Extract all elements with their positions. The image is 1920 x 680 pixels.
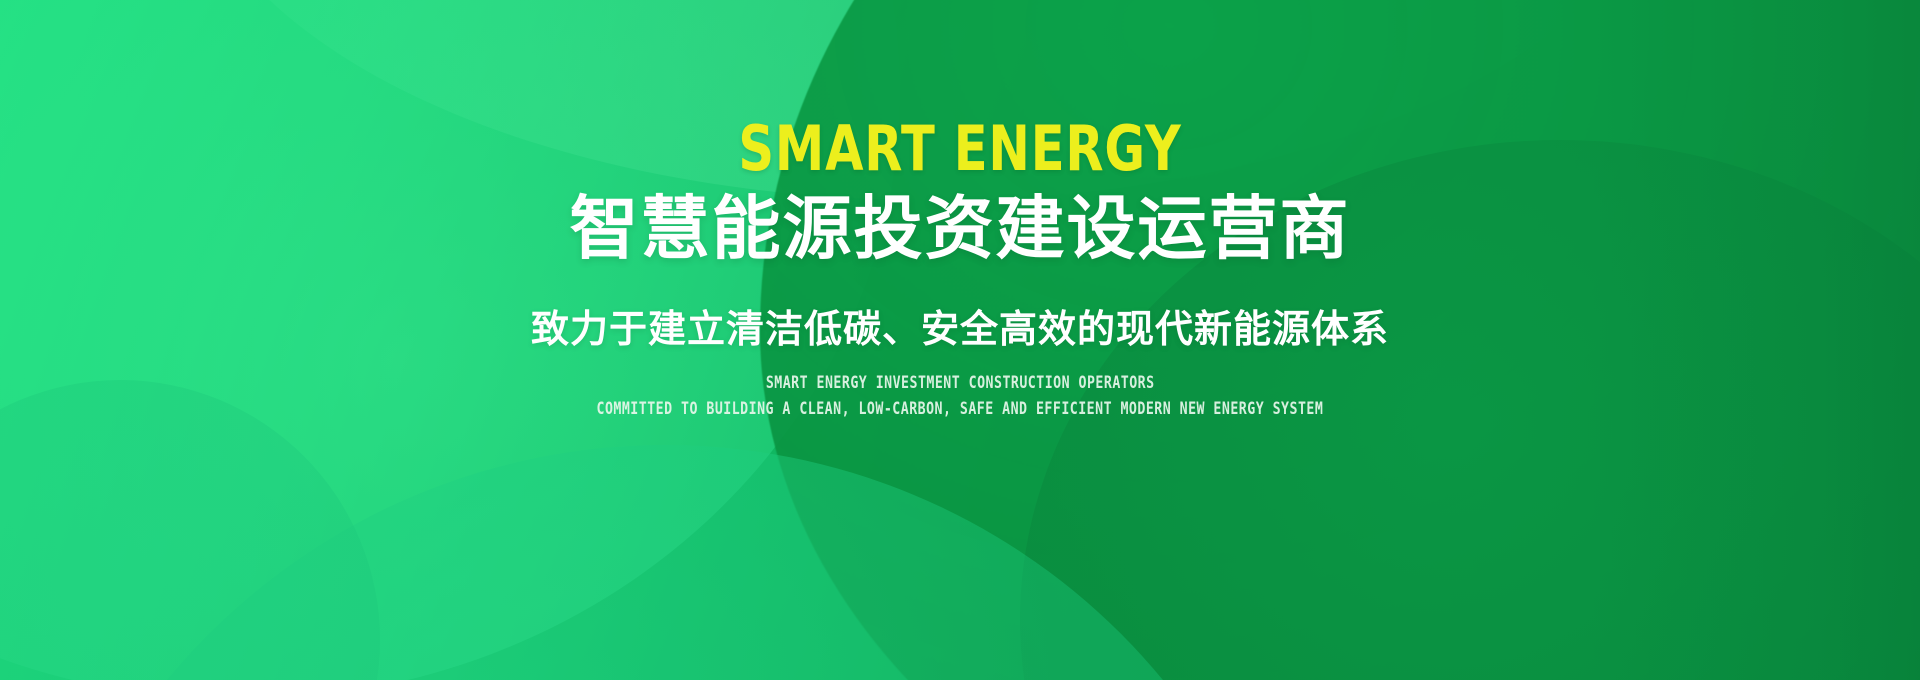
banner-caption-line-1: SMART ENERGY INVESTMENT CONSTRUCTION OPE… <box>766 374 1155 394</box>
hero-banner: SMART ENERGY 智慧能源投资建设运营商 致力于建立清洁低碳、安全高效的… <box>0 0 1920 680</box>
banner-title-english: SMART ENERGY <box>738 118 1181 180</box>
banner-subtitle-chinese: 致力于建立清洁低碳、安全高效的现代新能源体系 <box>531 307 1389 353</box>
banner-title-chinese: 智慧能源投资建设运营商 <box>570 192 1351 267</box>
banner-caption-block: SMART ENERGY INVESTMENT CONSTRUCTION OPE… <box>494 374 1426 419</box>
banner-caption-line-2: COMMITTED TO BUILDING A CLEAN, LOW-CARBO… <box>597 400 1324 420</box>
banner-content: SMART ENERGY 智慧能源投资建设运营商 致力于建立清洁低碳、安全高效的… <box>0 0 1920 680</box>
